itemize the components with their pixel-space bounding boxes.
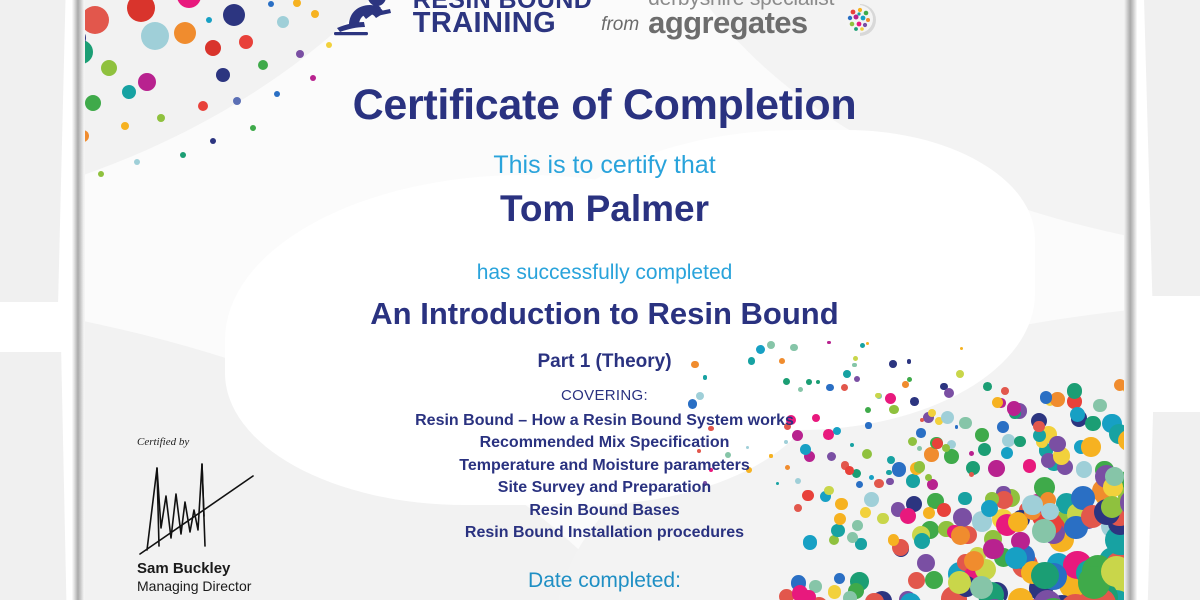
certified-by-label: Certified by	[137, 436, 355, 448]
course-title: An Introduction to Resin Bound	[85, 296, 1124, 332]
adjacent-page-fragment-left-bottom	[0, 352, 67, 600]
signature-block: Certified by Sam Buckley Managing Direct…	[135, 436, 355, 594]
handwritten-signature-icon	[135, 450, 355, 560]
brand-line-2: TRAINING	[413, 11, 592, 35]
logo-header: RESIN BOUND TRAINING from derbyshire spe…	[85, 0, 1124, 40]
adjacent-page-fragment-right-top	[1144, 0, 1200, 296]
certify-statement: This is to certify that	[85, 151, 1124, 180]
signatory-role: Managing Director	[137, 578, 355, 594]
certificate-content: RESIN BOUND TRAINING from derbyshire spe…	[85, 0, 1124, 600]
page-edge-left	[72, 0, 85, 600]
recipient-name: Tom Palmer	[85, 188, 1124, 230]
partner-wordmark: derbyshire specialist aggregates	[648, 0, 834, 36]
covering-label: COVERING:	[85, 387, 1124, 404]
brand-connector: from	[601, 14, 639, 36]
brand-wordmark: RESIN BOUND TRAINING	[413, 0, 592, 36]
certificate-page: RESIN BOUND TRAINING from derbyshire spe…	[85, 0, 1124, 600]
page-edge-right	[1124, 0, 1137, 600]
page-title: Certificate of Completion	[85, 81, 1124, 130]
completion-statement: has successfully completed	[85, 261, 1124, 285]
adjacent-page-fragment-right-bottom	[1147, 412, 1200, 600]
course-part: Part 1 (Theory)	[85, 351, 1124, 373]
partner-line-2: aggregates	[648, 9, 834, 37]
signatory-name: Sam Buckley	[137, 560, 355, 577]
adjacent-page-fragment-left-top	[0, 0, 66, 302]
aggregate-dots-circle-icon	[843, 3, 877, 37]
covering-topic-item: Resin Bound – How a Resin Bound System w…	[85, 410, 1124, 432]
resin-installer-icon	[332, 0, 404, 38]
